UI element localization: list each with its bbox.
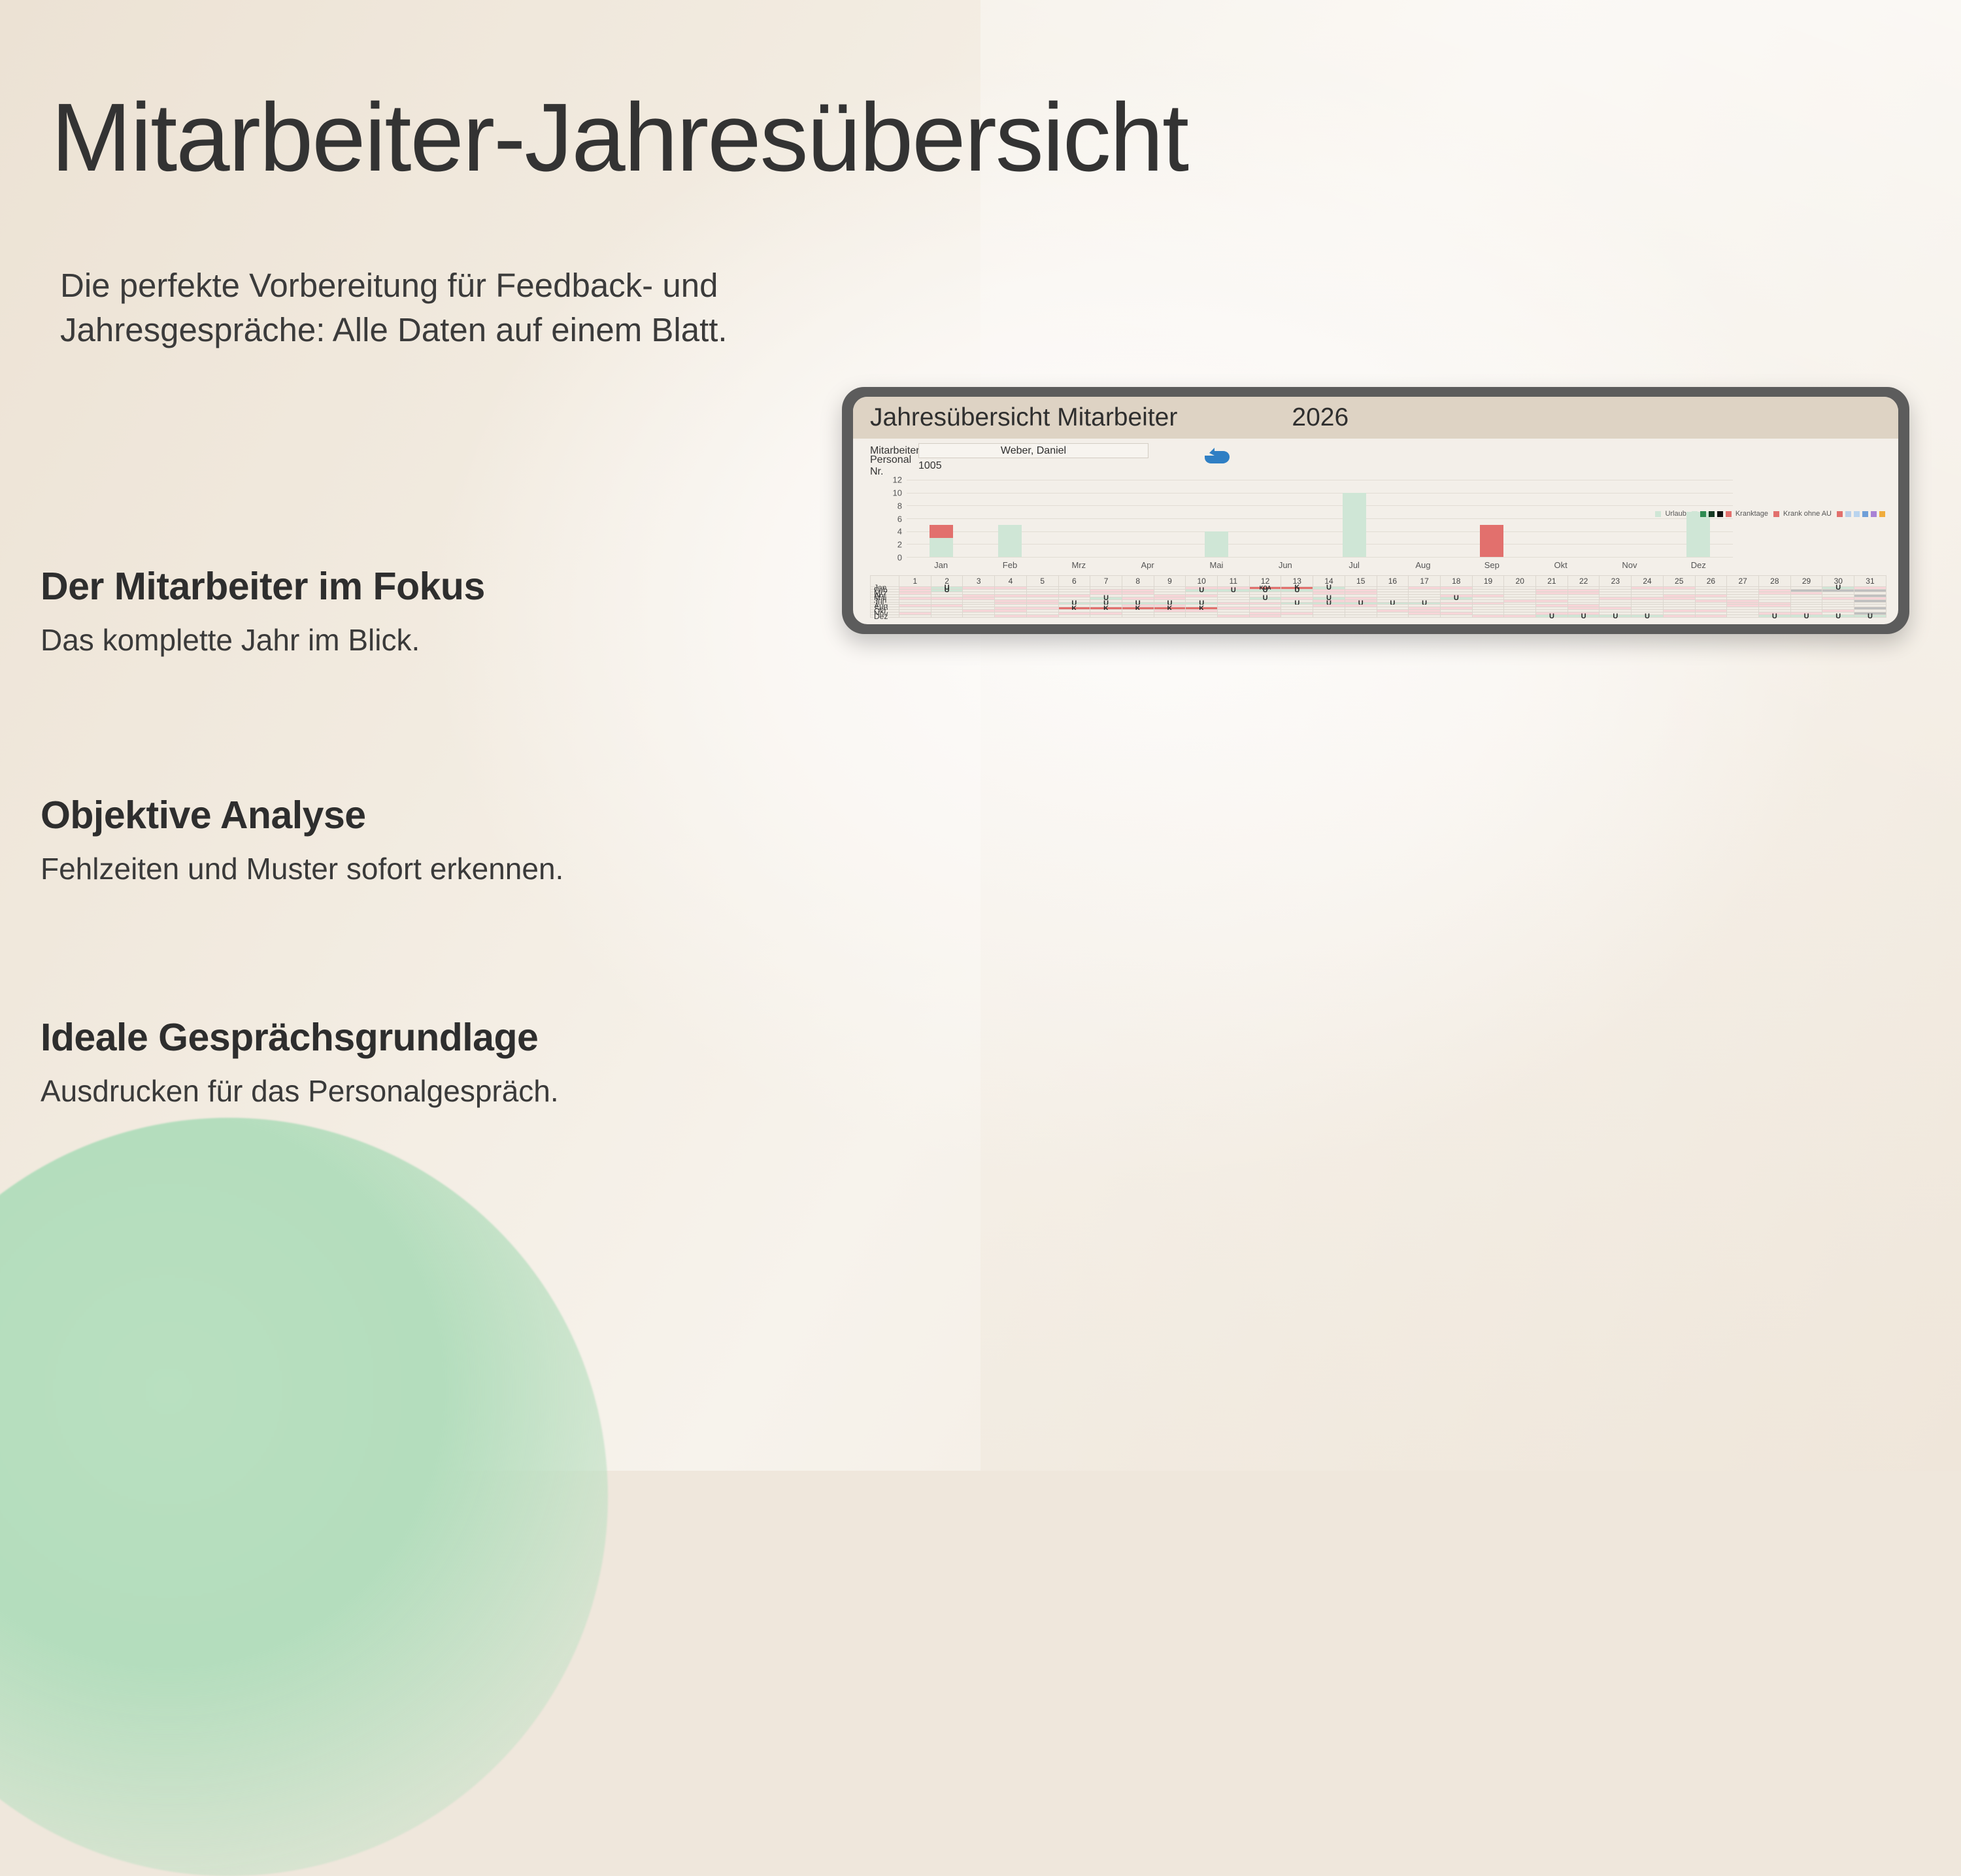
page-title: Mitarbeiter-Jahresübersicht (51, 90, 1188, 186)
calendar-day-cell[interactable] (1250, 615, 1282, 618)
chart-y-tick: 12 (893, 475, 902, 485)
chart-y-tick: 2 (897, 540, 902, 550)
employee-name-row: Mitarbeiter Weber, Daniel (870, 443, 1898, 458)
chart-bar-slot: Mrz (1045, 480, 1113, 557)
chart-y-tick: 4 (897, 527, 902, 537)
calendar-month-row: DezUUUUUUUU (871, 615, 1886, 618)
legend-swatch (1871, 511, 1877, 517)
chart-bar-segment-vacation (998, 525, 1022, 557)
calendar-day-cell[interactable] (1090, 615, 1122, 618)
calendar-day-header: 29 (1791, 576, 1823, 587)
calendar-day-header: 24 (1632, 576, 1664, 587)
calendar-day-header: 7 (1090, 576, 1122, 587)
absence-bar-chart: 024681012 JanFebMrzAprMaiJunJulAugSepOkt… (870, 476, 1886, 574)
chart-bar-segment-vacation (1205, 531, 1228, 557)
feature-block-1: Der Mitarbeiter im Fokus Das komplette J… (41, 565, 877, 658)
personal-nr-row: Personal Nr. 1005 (870, 458, 1898, 473)
calendar-day-cell[interactable] (1345, 615, 1377, 618)
calendar-day-header: 21 (1536, 576, 1568, 587)
calendar-day-cell[interactable] (1218, 615, 1250, 618)
legend-swatch (1692, 511, 1698, 517)
calendar-day-cell[interactable] (1409, 615, 1441, 618)
calendar-day-cell[interactable] (1122, 615, 1154, 618)
chart-bar-slot: Feb (975, 480, 1044, 557)
legend-label: Urlaub (1665, 510, 1686, 518)
app-year: 2026 (1292, 403, 1349, 432)
chart-bar-slot: Okt (1526, 480, 1595, 557)
employee-info-strip: Mitarbeiter Weber, Daniel Personal Nr. 1… (853, 439, 1898, 476)
calendar-day-header: 10 (1186, 576, 1218, 587)
feature-subtitle: Ausdrucken für das Personalgespräch. (41, 1073, 877, 1109)
legend-swatch (1709, 511, 1715, 517)
chart-plot-area: 024681012 JanFebMrzAprMaiJunJulAugSepOkt… (907, 480, 1733, 557)
chart-x-tick: Dez (1691, 560, 1706, 570)
legend-swatch (1773, 511, 1779, 517)
chart-bar (930, 480, 953, 557)
legend-swatch (1655, 511, 1661, 517)
calendar-day-header: 22 (1568, 576, 1600, 587)
calendar-day-header: 3 (963, 576, 995, 587)
device-screen: Jahresübersicht Mitarbeiter 2026 Mitarbe… (853, 397, 1898, 624)
calendar-day-cell[interactable] (1281, 615, 1313, 618)
calendar-day-header: 11 (1218, 576, 1250, 587)
calendar-day-cell[interactable] (1727, 615, 1759, 618)
legend-swatch (1854, 511, 1860, 517)
chart-legend: UrlaubKranktageKrank ohne AU (1655, 510, 1885, 518)
chart-bar-segment-sick (930, 525, 953, 538)
chart-bar (1067, 480, 1090, 557)
legend-swatch (1717, 511, 1723, 517)
calendar-day-cell[interactable]: U (1632, 615, 1664, 618)
chart-x-tick: Jun (1279, 560, 1292, 570)
chart-bar (1273, 480, 1297, 557)
calendar-day-cell[interactable] (1504, 615, 1536, 618)
chart-bar-segment-vacation (1343, 493, 1366, 557)
chart-x-tick: Jul (1349, 560, 1360, 570)
calendar-day-cell[interactable] (1027, 615, 1059, 618)
calendar-day-header: 23 (1600, 576, 1632, 587)
calendar-day-cell[interactable] (1696, 615, 1728, 618)
chart-bar-segment-vacation (1686, 512, 1710, 557)
chart-bar (1549, 480, 1573, 557)
chart-y-tick: 6 (897, 514, 902, 524)
calendar-day-header: 20 (1504, 576, 1536, 587)
calendar-grid: 1234567891011121314151617181920212223242… (870, 575, 1886, 618)
calendar-day-cell[interactable]: U (1568, 615, 1600, 618)
app-title: Jahresübersicht Mitarbeiter (870, 403, 1177, 432)
legend-label: Krank ohne AU (1783, 510, 1832, 518)
chart-x-tick: Mai (1209, 560, 1223, 570)
calendar-day-cell[interactable]: U (1600, 615, 1632, 618)
legend-swatch (1862, 511, 1868, 517)
chart-bar-segment-sick (1480, 525, 1503, 557)
chart-bar (998, 480, 1022, 557)
calendar-day-cell[interactable] (1059, 615, 1091, 618)
pointing-hand-icon (1203, 444, 1231, 465)
calendar-day-header: 9 (1154, 576, 1186, 587)
feature-subtitle: Das komplette Jahr im Blick. (41, 622, 877, 658)
background-sheen (980, 0, 1961, 1471)
app-header: Jahresübersicht Mitarbeiter 2026 (853, 397, 1898, 439)
calendar-day-header: 19 (1473, 576, 1505, 587)
employee-name-field[interactable]: Weber, Daniel (918, 443, 1148, 458)
chart-bar-slot: Sep (1458, 480, 1526, 557)
chart-x-tick: Mrz (1071, 560, 1086, 570)
calendar-day-cell[interactable] (963, 615, 995, 618)
feature-subtitle: Fehlzeiten und Muster sofort erkennen. (41, 851, 877, 887)
calendar-day-header: 5 (1027, 576, 1059, 587)
calendar-day-header: 31 (1854, 576, 1886, 587)
legend-swatch (1845, 511, 1851, 517)
calendar-day-cell[interactable]: U (1791, 615, 1823, 618)
chart-bar-slot: Dez (1664, 480, 1733, 557)
chart-bar-slot: Jun (1251, 480, 1320, 557)
chart-bar-segment-vacation (930, 538, 953, 558)
feature-title: Objektive Analyse (41, 794, 877, 837)
calendar-day-header: 18 (1441, 576, 1473, 587)
legend-swatch (1837, 511, 1843, 517)
calendar-day-header: 26 (1696, 576, 1728, 587)
calendar-day-cell[interactable] (1377, 615, 1409, 618)
chart-bar-slot: Aug (1388, 480, 1457, 557)
calendar-day-cell[interactable] (899, 615, 931, 618)
personal-nr-label: Personal Nr. (870, 454, 918, 478)
device-mockup: Jahresübersicht Mitarbeiter 2026 Mitarbe… (842, 387, 1909, 634)
calendar-day-cell[interactable] (1473, 615, 1505, 618)
chart-y-tick: 8 (897, 501, 902, 511)
legend-label: Kranktage (1735, 510, 1768, 518)
chart-bar (1480, 480, 1503, 557)
chart-x-tick: Jan (934, 560, 948, 570)
chart-y-tick: 10 (893, 488, 902, 497)
calendar-day-header: 16 (1377, 576, 1409, 587)
calendar-day-header: 27 (1727, 576, 1759, 587)
chart-bar (1205, 480, 1228, 557)
legend-swatch (1726, 511, 1732, 517)
calendar-day-cell[interactable]: U (1759, 615, 1791, 618)
calendar-day-header: 17 (1409, 576, 1441, 587)
feature-block-3: Ideale Gesprächsgrundlage Ausdrucken für… (41, 1016, 877, 1109)
chart-bar-slot: Jul (1320, 480, 1388, 557)
calendar-day-cell[interactable]: U (1536, 615, 1568, 618)
chart-x-tick: Sep (1484, 560, 1500, 570)
calendar-day-header: 28 (1759, 576, 1791, 587)
calendar-month-label: Dez (871, 615, 899, 618)
calendar-day-header: 6 (1059, 576, 1091, 587)
calendar-day-cell[interactable] (1313, 615, 1345, 618)
chart-bar-slot: Apr (1113, 480, 1182, 557)
chart-bar-slot: Mai (1182, 480, 1250, 557)
chart-bar (1686, 480, 1710, 557)
calendar-day-cell[interactable] (1664, 615, 1696, 618)
chart-bar-slot: Nov (1595, 480, 1664, 557)
chart-y-tick: 0 (897, 553, 902, 563)
chart-bar (1411, 480, 1435, 557)
chart-bars: JanFebMrzAprMaiJunJulAugSepOktNovDez (907, 480, 1733, 557)
calendar-day-header: 1 (899, 576, 931, 587)
feature-title: Ideale Gesprächsgrundlage (41, 1016, 877, 1059)
calendar-day-cell[interactable] (1441, 615, 1473, 618)
feature-block-2: Objektive Analyse Fehlzeiten und Muster … (41, 794, 877, 887)
chart-bar (1136, 480, 1160, 557)
chart-x-tick: Aug (1415, 560, 1430, 570)
legend-swatch (1879, 511, 1885, 517)
calendar-day-header: 4 (995, 576, 1027, 587)
calendar-day-cell[interactable] (1154, 615, 1186, 618)
chart-x-tick: Feb (1003, 560, 1017, 570)
calendar-day-cell[interactable]: U (1854, 615, 1886, 618)
calendar-day-header: 8 (1122, 576, 1154, 587)
chart-x-tick: Nov (1622, 560, 1637, 570)
calendar-day-cell[interactable] (995, 615, 1027, 618)
calendar-day-header: 25 (1664, 576, 1696, 587)
personal-nr-value: 1005 (918, 460, 942, 472)
chart-x-tick: Apr (1141, 560, 1154, 570)
feature-title: Der Mitarbeiter im Fokus (41, 565, 877, 608)
chart-x-tick: Okt (1554, 560, 1567, 570)
chart-gridline: 0 (907, 557, 1733, 558)
page-subtitle: Die perfekte Vorbereitung für Feedback- … (60, 263, 890, 352)
calendar-day-header: 15 (1345, 576, 1377, 587)
calendar-day-cell[interactable] (1186, 615, 1218, 618)
chart-bar-slot: Jan (907, 480, 975, 557)
legend-swatch (1700, 511, 1706, 517)
chart-bar (1343, 480, 1366, 557)
calendar-day-cell[interactable] (931, 615, 964, 618)
calendar-day-cell[interactable]: U (1822, 615, 1854, 618)
calendar-header-row: 1234567891011121314151617181920212223242… (871, 576, 1886, 587)
chart-bar (1618, 480, 1641, 557)
